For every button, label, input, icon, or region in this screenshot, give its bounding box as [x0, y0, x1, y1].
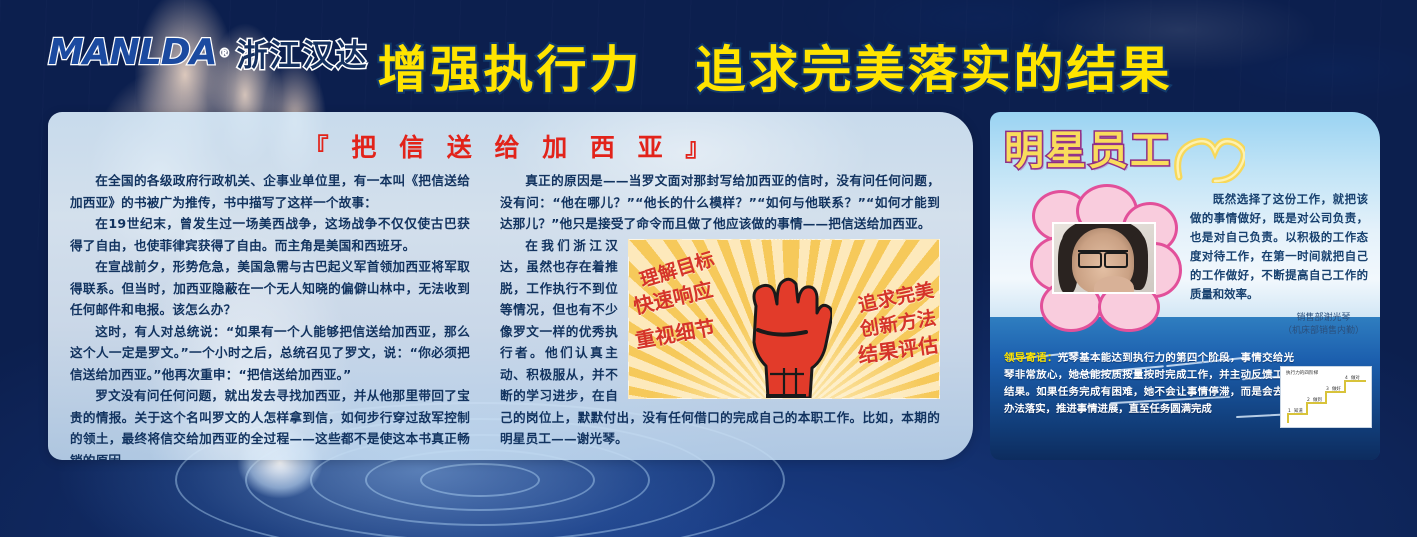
- logo-wordmark: MANLDA: [48, 32, 217, 73]
- leader-message-block: 领导寄语：光琴基本能达到执行力的第四个阶段，事情交给光琴非常放心，她总能按质按量…: [1004, 350, 1294, 418]
- paragraph: 罗文没有问任何问题，就出发去寻找加西亚，并从他那里带回了宝贵的情报。关于这个名叫…: [70, 385, 470, 460]
- paragraph: 在宣战前夕，形势危急，美国急需与古巴起义军首领加西亚将军取得联系。但当时，加西亚…: [70, 256, 470, 321]
- ladder-caption: 执行力的四阶梯: [1286, 370, 1318, 376]
- paragraph: 这时，有人对总统说：“如果有一个人能够把信送给加西亚，那么这个人一定是罗文。”一…: [70, 321, 470, 386]
- ladder-step-1-label: 知道: [1294, 408, 1303, 414]
- company-logo: MANLDA ® 浙江汉达: [48, 30, 369, 75]
- page-title: 增强执行力 追求完美落实的结果: [345, 30, 1205, 102]
- execution-ladder-diagram: 执行力的四阶梯 1 知道 2 做到 3 做好 4 做对: [1280, 366, 1372, 428]
- signature-department: （机床部销售内勤）: [1283, 325, 1364, 338]
- registered-trademark-icon: ®: [219, 46, 231, 60]
- ladder-step-1-no: 1: [1288, 409, 1291, 414]
- article-panel: 『 把 信 送 给 加 西 亚 』 在全国的各级政府行政机关、企事业单位里，有一…: [48, 112, 973, 460]
- employee-photo: [1052, 222, 1156, 294]
- star-employee-panel: 明星员工 既然选择了这份工作，就把该做的事情做好，既是对公司负责，也是对自己负责…: [990, 112, 1380, 460]
- ladder-step-2-no: 2: [1307, 398, 1310, 403]
- ladder-step-4-no: 4: [1345, 376, 1348, 381]
- employee-photo-frame: [1030, 184, 1182, 336]
- poster-canvas: MANLDA ® 浙江汉达 增强执行力 追求完美落实的结果 『 把 信 送 给 …: [0, 0, 1417, 537]
- signature-name: 销售部谢光琴: [1283, 312, 1364, 325]
- article-column-left: 在全国的各级政府行政机关、企事业单位里，有一本叫《把信送给加西亚》的书被广为推传…: [70, 170, 470, 460]
- raised-fist-icon: [736, 256, 832, 398]
- paragraph: 在全国的各级政府行政机关、企事业单位里，有一本叫《把信送给加西亚》的书被广为推传…: [70, 170, 470, 213]
- article-column-right: 真正的原因是——当罗文面对那封写给加西亚的信时，没有问任何问题，没有问：“他在哪…: [500, 170, 940, 450]
- ladder-step-4-label: 做对: [1351, 375, 1360, 381]
- execution-slogan-poster: 理解目标 快速响应 重视细节 追求完美 创新方法 结果评估: [628, 239, 940, 399]
- article-subtitle: 『 把 信 送 给 加 西 亚 』: [48, 128, 973, 164]
- leader-message-label: 领导寄语：: [1004, 352, 1058, 364]
- paragraph: 真正的原因是——当罗文面对那封写给加西亚的信时，没有问任何问题，没有问：“他在哪…: [500, 170, 940, 235]
- ladder-step-3-no: 3: [1326, 387, 1329, 392]
- paragraph: 在19世纪末，曾发生过一场美西战争，这场战争不仅仅使古巴获得了自由，也使菲律宾获…: [70, 213, 470, 256]
- ladder-step-2-label: 做到: [1313, 397, 1322, 403]
- glasses-icon: [1078, 250, 1128, 262]
- star-employee-title: 明星员工: [1004, 118, 1172, 176]
- ladder-step-3-label: 做好: [1332, 386, 1341, 392]
- employee-signature: 销售部谢光琴 （机床部销售内勤）: [1283, 312, 1364, 338]
- employee-quote: 既然选择了这份工作，就把该做的事情做好，既是对公司负责，也是对自己负责。以积极的…: [1190, 190, 1368, 304]
- heart-ribbon-icon: [1173, 117, 1245, 183]
